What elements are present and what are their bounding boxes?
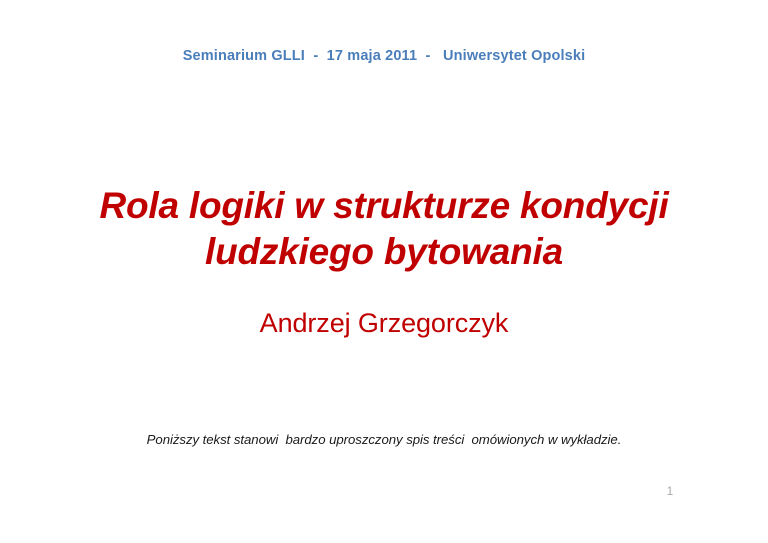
page-title: Rola logiki w strukturze kondycji ludzki… — [0, 183, 768, 275]
slide-caption: Poniższy tekst stanowi bardzo uproszczon… — [0, 432, 768, 447]
presentation-slide: Seminarium GLLI - 17 maja 2011 - Uniwers… — [0, 0, 768, 543]
page-number: 1 — [660, 486, 680, 498]
title-line-1: Rola logiki w strukturze kondycji — [0, 183, 768, 229]
title-line-2: ludzkiego bytowania — [0, 229, 768, 275]
author-name: Andrzej Grzegorczyk — [0, 308, 768, 339]
seminar-header: Seminarium GLLI - 17 maja 2011 - Uniwers… — [0, 48, 768, 64]
